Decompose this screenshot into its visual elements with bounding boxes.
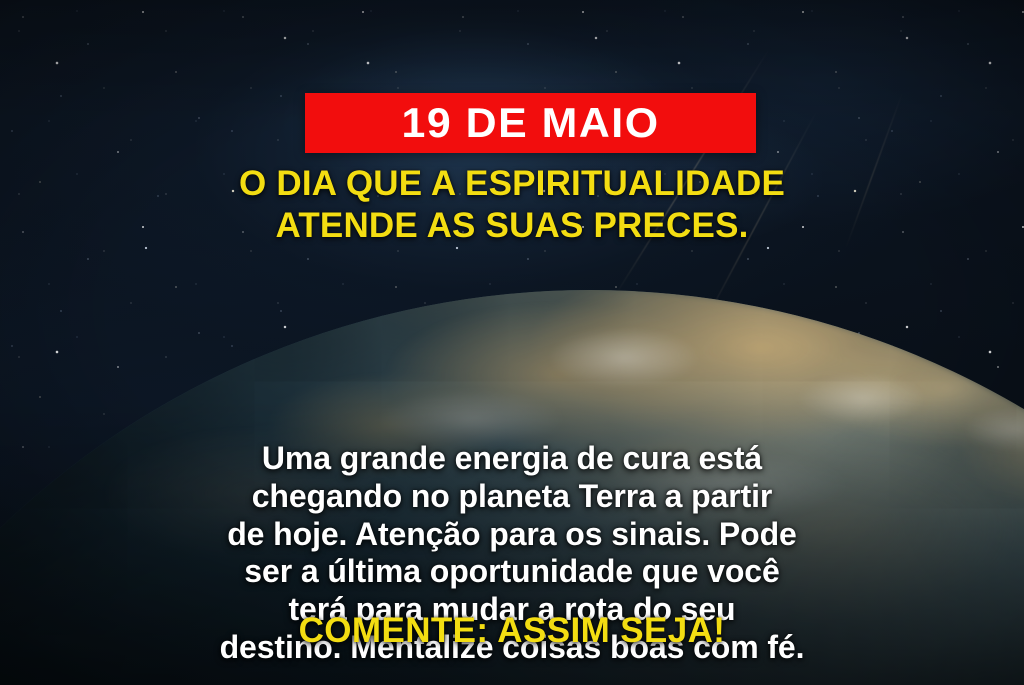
poster-canvas: 19 DE MAIO O DIA QUE A ESPIRITUALIDADE A…: [0, 0, 1024, 685]
body-line-3: de hoje. Atenção para os sinais. Pode: [50, 516, 974, 554]
headline: O DIA QUE A ESPIRITUALIDADE ATENDE AS SU…: [0, 163, 1024, 247]
content-layer: 19 DE MAIO O DIA QUE A ESPIRITUALIDADE A…: [0, 0, 1024, 685]
headline-line-1: O DIA QUE A ESPIRITUALIDADE: [40, 163, 984, 205]
body-line-1: Uma grande energia de cura está: [50, 440, 974, 478]
body-line-2: chegando no planeta Terra a partir: [50, 478, 974, 516]
date-banner-text: 19 DE MAIO: [401, 102, 659, 144]
body-line-4: ser a última oportunidade que você: [50, 553, 974, 591]
date-banner: 19 DE MAIO: [305, 93, 756, 153]
headline-line-2: ATENDE AS SUAS PRECES.: [40, 205, 984, 247]
call-to-action-text: COMENTE: ASSIM SEJA!: [0, 612, 1024, 651]
